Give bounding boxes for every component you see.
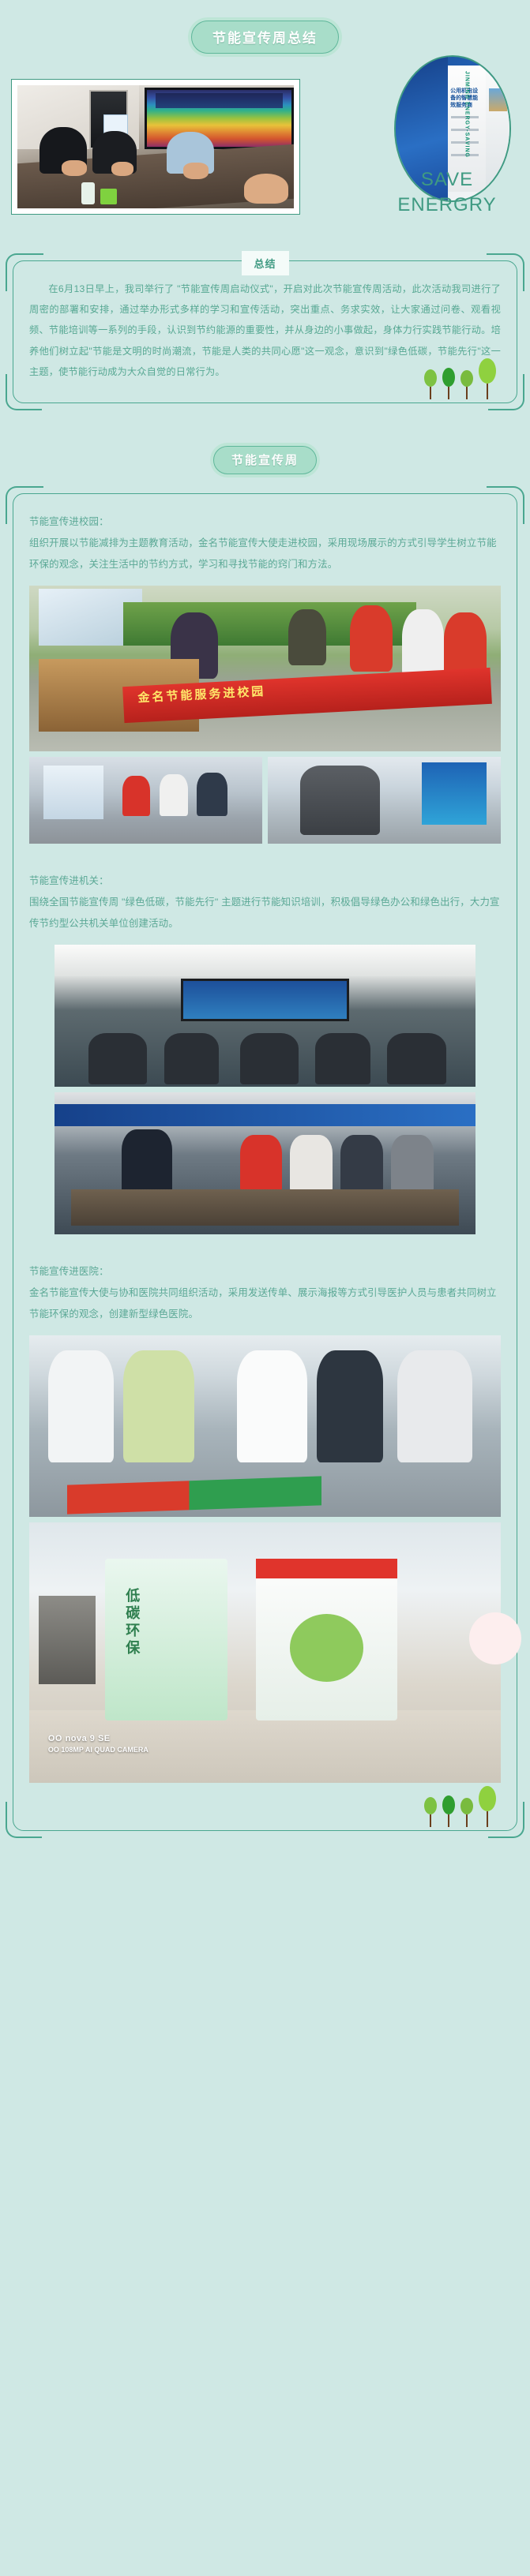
watermark-logo: OO: [48, 1734, 62, 1743]
section-hospital-photos: 低碳环保 OO nova 9 SE OO 108MP AI QUAD CAMER…: [29, 1335, 501, 1783]
tree-icon: [442, 1795, 455, 1827]
slogan-line-2: ENERGRY: [388, 193, 506, 218]
watermark-line-1: nova 9 SE: [66, 1734, 111, 1743]
summary-chip-label: 总结: [241, 251, 288, 275]
school-photo-right: [268, 757, 501, 844]
tree-icon: [460, 370, 473, 399]
exhibit-side-text: JINMING ENERGY-SAVING: [464, 71, 469, 158]
watermark-logo-2: OO: [48, 1746, 59, 1754]
section-hospital: 节能宣传进医院： 金名节能宣传大使与协和医院共同组织活动，采用发送传单、展示海报…: [29, 1261, 501, 1783]
decor-trees-bottom: [424, 1786, 496, 1827]
photo-head-3: [183, 163, 209, 178]
content-card: 节能宣传进校园： 组织开展以节能减排为主题教育活动，金名节能宣传大使走进校园，采…: [13, 493, 517, 1831]
hero-photo-frame: [11, 79, 300, 215]
slogan-line-1: SAVE: [388, 167, 506, 193]
section-hospital-title: 节能宣传进医院：: [29, 1261, 501, 1282]
tree-icon: [424, 1797, 437, 1827]
gov-training-photo: [55, 945, 475, 1087]
section-school-title: 节能宣传进校园：: [29, 511, 501, 533]
camera-watermark: OO nova 9 SE OO 108MP AI QUAD CAMERA: [48, 1733, 148, 1754]
section-government: 节能宣传进机关： 围绕全国节能宣传周 "绿色低碳，节能先行" 主题进行节能知识培…: [29, 871, 501, 1234]
photo-tv-screen: [145, 88, 294, 149]
title-badge-row: 节能宣传周总结: [0, 21, 530, 54]
watermark-line-2: 108MP AI QUAD CAMERA: [61, 1746, 148, 1754]
summary-card: 总结 在6月13日早上，我司举行了 "节能宣传周启动仪式"，开启对此次节能宣传周…: [13, 260, 517, 403]
tree-icon: [479, 1786, 496, 1827]
section-school-body: 组织开展以节能减排为主题教育活动，金名节能宣传大使走进校园，采用现场展示的方式引…: [29, 533, 501, 575]
standee-right: [256, 1559, 397, 1720]
photo-head-1: [62, 160, 87, 176]
photo-foreground-hand: [244, 174, 288, 203]
section-title-badge: 节能宣传周: [213, 446, 317, 474]
hospital-leaflet-photo: [29, 1335, 501, 1517]
hero-section: 公用机电设备的智慧能效服务商 JINMING ENERGY-SAVING SAV…: [0, 74, 530, 224]
standee-left-text: 低碳环保: [122, 1588, 142, 1657]
hero-meeting-photo: [17, 85, 294, 208]
section-school: 节能宣传进校园： 组织开展以节能减排为主题教育活动，金名节能宣传大使走进校园，采…: [29, 511, 501, 844]
photo-bottle: [81, 182, 96, 204]
page-title-badge: 节能宣传周总结: [191, 21, 339, 54]
decor-pink-blob: [469, 1612, 521, 1664]
section-school-photos: 金名节能服务进校园: [29, 586, 501, 844]
tree-icon: [424, 369, 437, 399]
school-photo-left: [29, 757, 262, 844]
tree-icon: [460, 1798, 473, 1827]
section-government-photos: [29, 945, 501, 1234]
section-government-body: 围绕全国节能宣传周 "绿色低碳，节能先行" 主题进行节能知识培训，积极倡导绿色办…: [29, 892, 501, 934]
photo-cup: [100, 189, 117, 204]
decor-trees-summary: [424, 358, 496, 399]
section-government-title: 节能宣传进机关：: [29, 871, 501, 892]
poster-page: 节能宣传周总结: [0, 0, 530, 2576]
exhibit-thumbnail: [489, 88, 507, 111]
save-energy-slogan: SAVE ENERGRY: [388, 167, 506, 217]
tree-icon: [442, 368, 455, 399]
photo-head-2: [111, 162, 133, 177]
tree-icon: [479, 358, 496, 399]
hospital-standee-photo: 低碳环保 OO nova 9 SE OO 108MP AI QUAD CAMER…: [29, 1522, 501, 1783]
standee-left: 低碳环保: [105, 1559, 227, 1720]
section-hospital-body: 金名节能宣传大使与协和医院共同组织活动，采用发送传单、展示海报等方式引导医护人员…: [29, 1282, 501, 1324]
section-badge-row: 节能宣传周: [0, 446, 530, 474]
school-main-photo: 金名节能服务进校园: [29, 586, 501, 751]
school-banner-text: 金名节能服务进校园: [137, 682, 266, 705]
gov-meeting-photo: [55, 1092, 475, 1234]
